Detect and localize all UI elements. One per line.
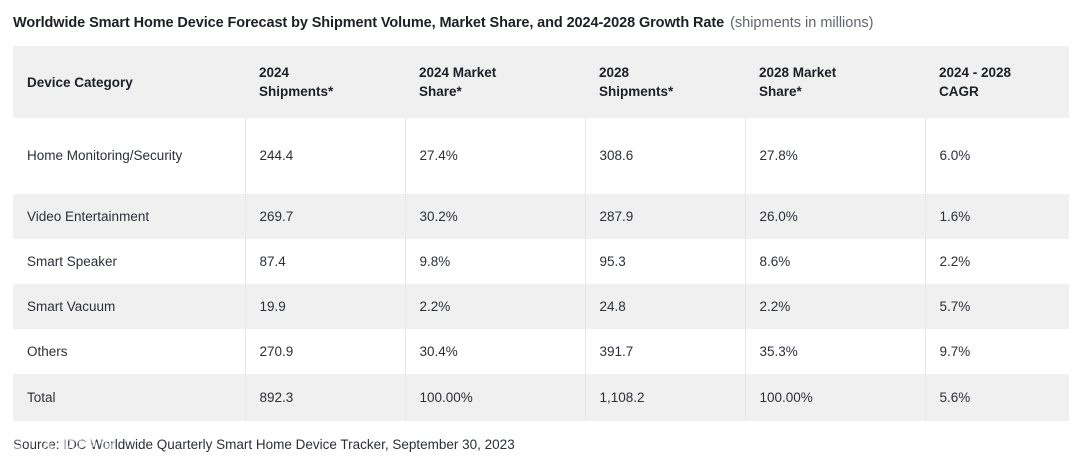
document-title-bar: Worldwide Smart Home Device Forecast by …: [0, 0, 1080, 46]
cell-shipments-2024: 244.4: [245, 118, 405, 194]
table-row: Smart Vacuum 19.9 2.2% 24.8 2.2% 5.7%: [13, 284, 1069, 329]
table-row: Others 270.9 30.4% 391.7 35.3% 9.7%: [13, 329, 1069, 374]
page-title: Worldwide Smart Home Device Forecast by …: [13, 15, 724, 31]
table-header-row: Device Category 2024 Shipments* 2024 Mar…: [13, 46, 1069, 118]
cell-shipments-2024-total: 892.3: [245, 374, 405, 421]
column-header-line2: CAGR: [939, 82, 1069, 101]
cell-share-2028: 35.3%: [745, 329, 925, 374]
cell-category: Others: [13, 329, 245, 374]
column-header-2024-shipments: 2024 Shipments*: [245, 46, 405, 118]
table-row: Home Monitoring/Security 244.4 27.4% 308…: [13, 118, 1069, 194]
cell-cagr: 1.6%: [925, 194, 1069, 239]
cell-share-2024-total: 100.00%: [405, 374, 585, 421]
column-header-2028-shipments: 2028 Shipments*: [585, 46, 745, 118]
column-header-line2: Shipments*: [259, 82, 405, 101]
column-header-line1: 2024: [259, 63, 405, 82]
column-header-cagr: 2024 - 2028 CAGR: [925, 46, 1069, 118]
title-unit-note: (shipments in millions): [730, 15, 873, 31]
column-header-line2: Share*: [759, 82, 925, 101]
cell-cagr: 2.2%: [925, 239, 1069, 284]
cell-shipments-2024: 19.9: [245, 284, 405, 329]
cell-category: Video Entertainment: [13, 194, 245, 239]
cell-cagr-total: 5.6%: [925, 374, 1069, 421]
cell-cagr: 9.7%: [925, 329, 1069, 374]
cell-shipments-2028: 308.6: [585, 118, 745, 194]
cell-share-2028: 26.0%: [745, 194, 925, 239]
cell-shipments-2024: 270.9: [245, 329, 405, 374]
table-header: Device Category 2024 Shipments* 2024 Mar…: [13, 46, 1069, 118]
cell-category: Home Monitoring/Security: [13, 118, 245, 194]
cell-category: Smart Vacuum: [13, 284, 245, 329]
table-document: Worldwide Smart Home Device Forecast by …: [0, 0, 1080, 471]
cell-share-2028-total: 100.00%: [745, 374, 925, 421]
cell-shipments-2028: 391.7: [585, 329, 745, 374]
column-header-line1: Device Category: [27, 73, 245, 92]
cell-category-total: Total: [13, 374, 245, 421]
cell-cagr: 5.7%: [925, 284, 1069, 329]
table-total-row: Total 892.3 100.00% 1,108.2 100.00% 5.6%: [13, 374, 1069, 421]
column-header-line1: 2028: [599, 63, 745, 82]
column-header-line1: 2024 - 2028: [939, 63, 1069, 82]
cell-share-2028: 27.8%: [745, 118, 925, 194]
cell-share-2028: 2.2%: [745, 284, 925, 329]
cell-share-2024: 9.8%: [405, 239, 585, 284]
table-body: Home Monitoring/Security 244.4 27.4% 308…: [13, 118, 1069, 421]
cell-shipments-2028: 24.8: [585, 284, 745, 329]
cell-shipments-2024: 87.4: [245, 239, 405, 284]
cell-share-2024: 30.4%: [405, 329, 585, 374]
table-row: Video Entertainment 269.7 30.2% 287.9 26…: [13, 194, 1069, 239]
table-row: Smart Speaker 87.4 9.8% 95.3 8.6% 2.2%: [13, 239, 1069, 284]
column-header-2028-market-share: 2028 Market Share*: [745, 46, 925, 118]
document-footer: Source: IDC Worldwide Quarterly Smart Ho…: [0, 421, 1080, 467]
cell-share-2024: 2.2%: [405, 284, 585, 329]
cell-share-2024: 30.2%: [405, 194, 585, 239]
cell-shipments-2028-total: 1,108.2: [585, 374, 745, 421]
cell-shipments-2028: 287.9: [585, 194, 745, 239]
forecast-table: Device Category 2024 Shipments* 2024 Mar…: [13, 46, 1069, 421]
cell-shipments-2028: 95.3: [585, 239, 745, 284]
source-note: Source: IDC Worldwide Quarterly Smart Ho…: [13, 437, 515, 452]
column-header-line2: Share*: [419, 82, 585, 101]
cell-cagr: 6.0%: [925, 118, 1069, 194]
cell-category: Smart Speaker: [13, 239, 245, 284]
column-header-line1: 2024 Market: [419, 63, 585, 82]
cell-share-2024: 27.4%: [405, 118, 585, 194]
column-header-2024-market-share: 2024 Market Share*: [405, 46, 585, 118]
column-header-line1: 2028 Market: [759, 63, 925, 82]
cell-shipments-2024: 269.7: [245, 194, 405, 239]
cell-share-2028: 8.6%: [745, 239, 925, 284]
column-header-line2: Shipments*: [599, 82, 745, 101]
column-header-device-category: Device Category: [13, 46, 245, 118]
